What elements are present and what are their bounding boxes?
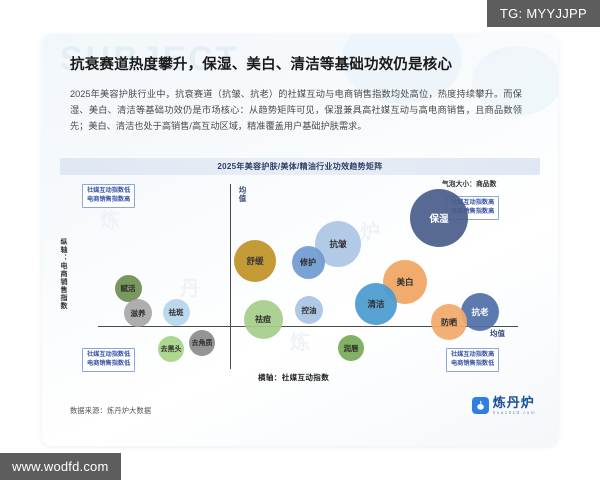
data-source-note: 数据来源：炼丹炉大数据: [70, 406, 151, 416]
bubble-size-legend: 气泡大小：商品数: [442, 178, 496, 188]
bubble-label: 抗老: [471, 306, 488, 318]
bubble-matrix-plot: 炼 丹 炉 炼 纵轴：电商销售指数 横轴：社媒互动指数 均值 均值 气泡大小：商…: [60, 176, 540, 388]
brand-logo: 炼丹炉 hua1818.com: [472, 396, 536, 416]
bubble-12[interactable]: 祛斑: [163, 299, 190, 326]
plot-watermark: 炉: [360, 216, 380, 245]
bubble-label: 去角质: [192, 338, 213, 348]
furnace-icon: [472, 397, 489, 414]
bubble-label: 祛痘: [255, 314, 271, 325]
plot-watermark: 炼: [290, 326, 310, 355]
bubble-label: 润唇: [344, 343, 359, 354]
plot-watermark: 丹: [180, 272, 200, 301]
article-body: 2025年美容护肤行业中，抗衰赛道（抗皱、抗老）的社媒互动与电商销售指数均处高位…: [70, 86, 522, 134]
bubble-13[interactable]: 去黑头: [158, 336, 184, 362]
bubble-label: 去黑头: [161, 344, 182, 354]
plot-watermark: 炼: [100, 204, 120, 233]
logo-text-block: 炼丹炉 hua1818.com: [493, 396, 536, 416]
bubble-8[interactable]: 控油: [295, 296, 323, 324]
bubble-label: 清洁: [367, 298, 384, 310]
bubble-label: 防晒: [441, 317, 457, 328]
bubble-14[interactable]: 去角质: [189, 330, 215, 356]
bubble-7[interactable]: 防晒: [431, 304, 467, 340]
bubble-label: 祛斑: [169, 307, 184, 318]
quadrant-label-top-left: 社媒互动指数低 电商销售指数高: [82, 184, 135, 208]
bubble-15[interactable]: 润唇: [338, 335, 364, 361]
quadrant-line-1: 社媒互动指数低: [87, 187, 130, 196]
poster-card: SUBJECT 抗衰赛道热度攀升，保湿、美白、清洁等基础功效仍是核心 2025年…: [0, 0, 600, 480]
quadrant-line-1: 社媒互动指数高: [451, 351, 494, 360]
chart-panel: 2025年美容护肤/美体/精油行业功效趋势矩阵 炼 丹 炉 炼 纵轴：电商销售指…: [60, 158, 540, 388]
bubble-label: 滋养: [131, 308, 146, 319]
logo-name: 炼丹炉: [493, 396, 536, 409]
quadrant-line-2: 电商销售指数高: [87, 196, 130, 205]
bubble-label: 控油: [302, 305, 317, 316]
bubble-5[interactable]: 清洁: [355, 283, 397, 325]
x-axis-mean-label: 均值: [490, 328, 505, 339]
bubble-2[interactable]: 舒缓: [234, 240, 276, 282]
y-axis-label: 纵轴：电商销售指数: [58, 238, 68, 310]
bubble-11[interactable]: 滋养: [124, 299, 152, 327]
bubble-10[interactable]: 赋活: [115, 275, 142, 302]
chart-title: 2025年美容护肤/美体/精油行业功效趋势矩阵: [60, 158, 540, 175]
quadrant-line-1: 社媒互动指数低: [87, 351, 130, 360]
bubble-0[interactable]: 保湿: [410, 189, 468, 247]
bubble-3[interactable]: 修护: [292, 246, 325, 279]
site-watermark-badge: www.wodfd.com: [0, 453, 121, 480]
quadrant-label-bottom-left: 社媒互动指数低 电商销售指数低: [82, 348, 135, 372]
page-title: 抗衰赛道热度攀升，保湿、美白、清洁等基础功效仍是核心: [70, 56, 520, 75]
logo-url: hua1818.com: [493, 411, 536, 416]
bubble-9[interactable]: 祛痘: [244, 300, 283, 339]
bubble-label: 保湿: [429, 211, 448, 225]
y-axis-line: [230, 184, 231, 369]
bubble-label: 抗皱: [329, 238, 346, 250]
telegram-watermark-badge: TG: MYYJJPP: [487, 0, 600, 27]
bubble-label: 舒缓: [246, 255, 263, 267]
poster-inner-panel: SUBJECT 抗衰赛道热度攀升，保湿、美白、清洁等基础功效仍是核心 2025年…: [42, 34, 558, 446]
bubble-label: 修护: [300, 257, 316, 268]
quadrant-label-bottom-right: 社媒互动指数高 电商销售指数低: [446, 348, 499, 372]
quadrant-line-2: 电商销售指数低: [87, 360, 130, 369]
bubble-label: 赋活: [121, 283, 136, 294]
y-axis-mean-label: 均值: [236, 186, 248, 203]
quadrant-line-2: 电商销售指数低: [451, 360, 494, 369]
bubble-label: 美白: [396, 276, 413, 288]
x-axis-label: 横轴：社媒互动指数: [258, 372, 329, 383]
